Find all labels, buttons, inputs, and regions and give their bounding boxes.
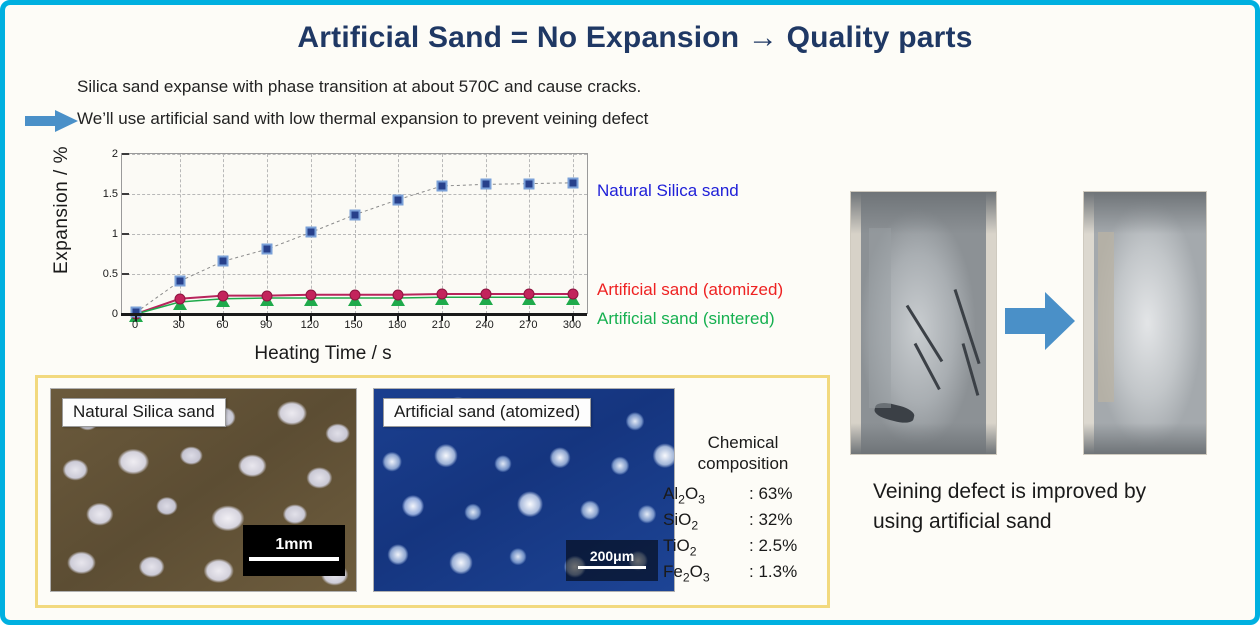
- chart-data-point: [305, 227, 316, 238]
- chart-x-tick-mark: [179, 313, 181, 321]
- chart-data-point: [480, 179, 491, 190]
- legend-artificial-sand-atomized: Artificial sand (atomized): [597, 280, 783, 300]
- chart-data-point: [393, 194, 404, 205]
- chart-data-point: [568, 289, 579, 300]
- improvement-arrow-icon: [1005, 290, 1075, 352]
- chart-y-axis-label: Expansion / %: [51, 135, 73, 285]
- casting-edge-shade: [1098, 232, 1114, 402]
- chart-x-axis-label: Heating Time / s: [133, 343, 513, 365]
- chemical-composition-title-line1: Chemical: [663, 432, 823, 453]
- chart-y-tick-label: 2: [112, 148, 118, 160]
- chemical-formula: TiO2: [663, 534, 741, 560]
- chart-x-tick-mark: [572, 313, 574, 321]
- chemical-composition-block: Chemical composition Al2O3: 63%SiO2: 32%…: [663, 432, 823, 587]
- scale-bar-200um-label: 200μm: [590, 549, 634, 564]
- chart-data-point: [524, 289, 535, 300]
- casting-bottom-shade: [1084, 423, 1206, 454]
- photo-caption-artificial-sand-atomized: Artificial sand (atomized): [383, 398, 591, 427]
- chemical-value: : 32%: [749, 508, 823, 534]
- chart-x-tick-mark: [485, 313, 487, 321]
- chart-y-tick-label: 0: [112, 308, 118, 320]
- chart-data-point: [262, 290, 273, 301]
- crack-line: [906, 305, 944, 363]
- chemical-composition-title: Chemical composition: [663, 432, 823, 475]
- chart-x-tick-mark: [354, 313, 356, 321]
- chemical-row: TiO2: 2.5%: [663, 534, 823, 560]
- chart-x-tick-mark: [222, 313, 224, 321]
- subtitle-line-2: We’ll use artificial sand with low therm…: [77, 109, 648, 129]
- chart-x-tick-mark: [528, 313, 530, 321]
- chart-plot-area: 00.511.52: [121, 153, 588, 314]
- chart-data-point: [480, 289, 491, 300]
- chart-data-point: [174, 293, 185, 304]
- casting-bottom-shade: [851, 423, 996, 454]
- chart-x-tick-mark: [135, 313, 137, 321]
- page-title: Artificial Sand = No Expansion → Quality…: [5, 21, 1260, 55]
- chemical-row: Al2O3: 63%: [663, 482, 823, 508]
- chart-data-point: [349, 209, 360, 220]
- chart-data-point: [305, 289, 316, 300]
- scale-bar-200um: 200μm: [566, 540, 658, 581]
- casting-edge-shade: [869, 228, 891, 408]
- right-caption-line2: using artificial sand: [873, 507, 1203, 537]
- photo-casting-with-veining-defect: [850, 191, 997, 455]
- chart-data-point: [568, 177, 579, 188]
- legend-artificial-sand-sintered: Artificial sand (sintered): [597, 309, 775, 329]
- subtitle-line-1: Silica sand expanse with phase transitio…: [77, 77, 641, 97]
- right-arrow-icon: [25, 109, 79, 133]
- chart-data-point: [218, 290, 229, 301]
- chemical-value: : 1.3%: [749, 560, 823, 586]
- slide-root: Artificial Sand = No Expansion → Quality…: [0, 0, 1260, 625]
- chart-data-point: [393, 289, 404, 300]
- scale-bar-200um-line: [578, 566, 647, 569]
- scale-bar-1mm-line: [249, 557, 339, 561]
- chart-x-tick-mark: [397, 313, 399, 321]
- chemical-row: SiO2: 32%: [663, 508, 823, 534]
- casting-top-shade: [1084, 192, 1206, 234]
- photo-caption-natural-silica-sand: Natural Silica sand: [62, 398, 226, 427]
- right-caption-line1: Veining defect is improved by: [873, 477, 1203, 507]
- expansion-chart: Expansion / % Heating Time / s 00.511.52…: [33, 147, 593, 372]
- chemical-row: Fe2O3: 1.3%: [663, 560, 823, 586]
- chemical-composition-title-line2: composition: [663, 453, 823, 474]
- chemical-value: : 63%: [749, 482, 823, 508]
- chart-y-tick-label: 0.5: [103, 268, 118, 280]
- chemical-formula: Fe2O3: [663, 560, 741, 586]
- chart-x-tick-mark: [310, 313, 312, 321]
- scale-bar-1mm: 1mm: [243, 525, 345, 576]
- chart-data-point: [218, 256, 229, 267]
- chemical-value: : 2.5%: [749, 534, 823, 560]
- chemical-formula: Al2O3: [663, 482, 741, 508]
- scale-bar-1mm-label: 1mm: [275, 537, 312, 554]
- chart-x-tick-mark: [441, 313, 443, 321]
- chart-data-point: [174, 276, 185, 287]
- chart-y-tick-label: 1.5: [103, 188, 118, 200]
- right-caption: Veining defect is improved by using arti…: [873, 477, 1203, 538]
- chart-data-point: [349, 289, 360, 300]
- chart-data-point: [436, 289, 447, 300]
- chart-data-point: [436, 181, 447, 192]
- chemical-formula: SiO2: [663, 508, 741, 534]
- sand-comparison-panel: Natural Silica sand 1mm Artificial sand …: [35, 375, 830, 608]
- chart-data-point: [262, 244, 273, 255]
- chart-data-point: [524, 178, 535, 189]
- photo-casting-improved: [1083, 191, 1207, 455]
- chart-y-tick-label: 1: [112, 228, 118, 240]
- legend-natural-silica-sand: Natural Silica sand: [597, 181, 739, 201]
- chart-x-tick-mark: [266, 313, 268, 321]
- chemical-composition-rows: Al2O3: 63%SiO2: 32%TiO2: 2.5%Fe2O3: 1.3%: [663, 482, 823, 587]
